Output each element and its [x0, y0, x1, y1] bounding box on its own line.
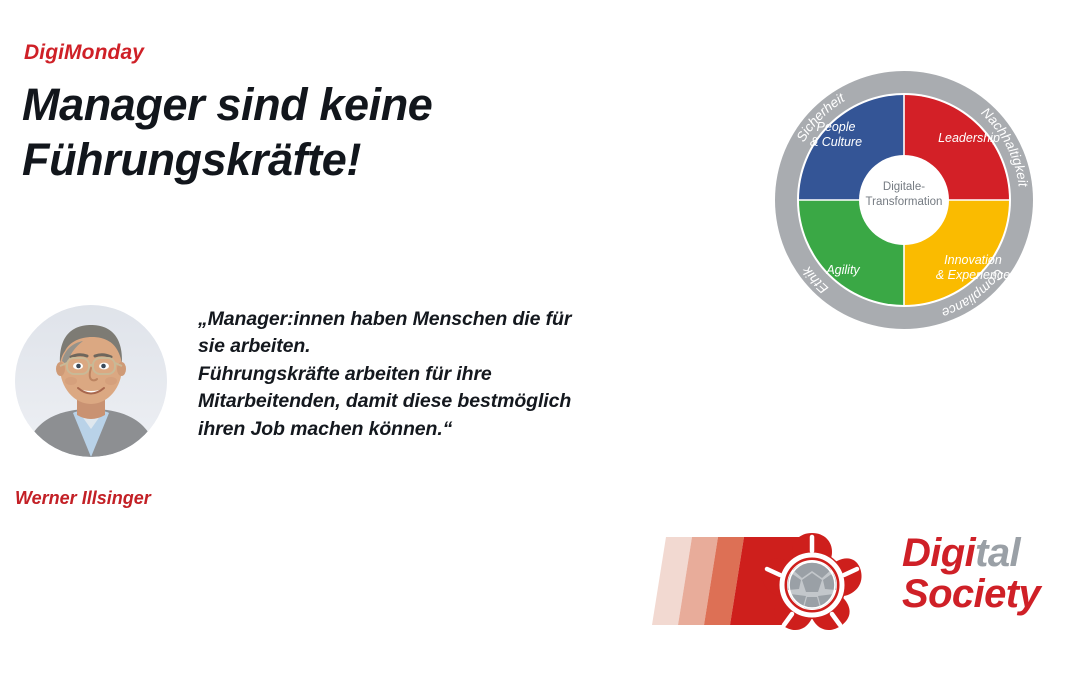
- quote-line: „Manager:innen haben Menschen die für: [198, 306, 634, 333]
- segment-label-line: Leadership: [922, 131, 1016, 146]
- logo-wordmark-line-1: Digital: [902, 533, 1040, 574]
- kicker-label: DigiMonday: [24, 41, 144, 65]
- logo-word-tal: tal: [975, 531, 1020, 575]
- quote-line: ihren Job machen können.“: [198, 416, 634, 443]
- wheel-center-line: Digitale-: [854, 180, 954, 195]
- segment-label-line: Innovation: [920, 253, 1026, 268]
- logo-wordmark-line-2: Society: [902, 574, 1040, 615]
- headline-line-2: Führungskräfte!: [22, 133, 642, 188]
- segment-label-leadership: Leadership: [922, 131, 1016, 146]
- avatar: [15, 305, 167, 457]
- segment-label-line: Agility: [800, 263, 886, 278]
- portrait-illustration: [15, 305, 167, 457]
- logo-wordmark: Digital Society: [902, 533, 1040, 615]
- slogan-line-2: the future: [320, 542, 620, 589]
- headline-line-1: Manager sind keine: [22, 78, 642, 133]
- wheel-center-line: Transformation: [854, 195, 954, 210]
- quote-text: „Manager:innen haben Menschen die für si…: [198, 306, 634, 443]
- segment-label-line: & Experience: [920, 268, 1026, 283]
- logo-word-digi: Digi: [902, 531, 975, 575]
- segment-label-agility: Agility: [800, 263, 886, 278]
- quote-line: sie arbeiten.: [198, 333, 634, 360]
- slogan-block: creating the future together!: [320, 518, 620, 611]
- page-title: Manager sind keine Führungskräfte!: [22, 78, 642, 188]
- segment-label-line: People: [793, 120, 879, 135]
- segment-label-line: & Culture: [793, 135, 879, 150]
- slogan-line-1: creating: [320, 518, 620, 542]
- quote-line: Mitarbeitenden, damit diese bestmöglich: [198, 388, 634, 415]
- digital-society-logo: Digital Society: [652, 525, 1072, 645]
- slogan-line-3: together!: [320, 589, 620, 611]
- author-name: Werner Illsinger: [15, 488, 151, 509]
- quote-line: Führungskräfte arbeiten für ihre: [198, 361, 634, 388]
- digital-transformation-wheel: Sicherheit Nachhaltigkeit Compliance Eth…: [770, 66, 1038, 334]
- segment-label-innovation: Innovation & Experience: [920, 253, 1026, 284]
- logo-mark: [652, 525, 902, 645]
- wheel-center-label: Digitale- Transformation: [854, 180, 954, 210]
- segment-label-people-culture: People & Culture: [793, 120, 879, 151]
- slide-canvas: DigiMonday Manager sind keine Führungskr…: [0, 0, 1080, 675]
